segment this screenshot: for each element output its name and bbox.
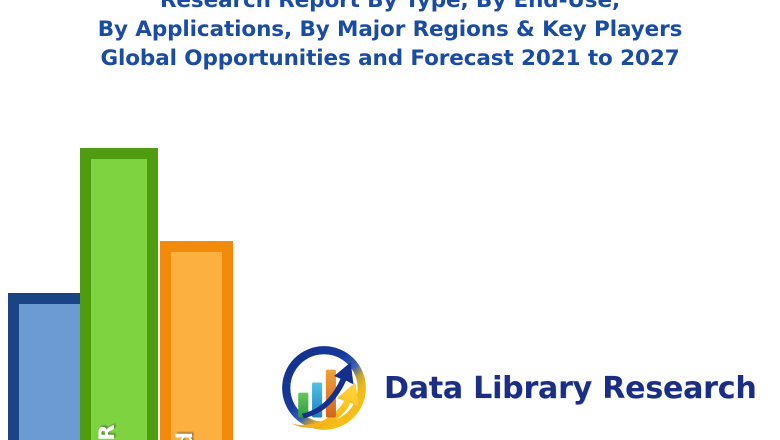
report-banner: Research Report By Type, By End-Use, By … — [0, 0, 780, 440]
title-line-2: By Applications, By Major Regions & Key … — [0, 15, 780, 44]
brand-logo: Data Library Research — [278, 340, 757, 436]
page-title: Research Report By Type, By End-Use, By … — [0, 0, 780, 73]
title-line-1: Research Report By Type, By End-Use, — [0, 0, 780, 15]
bar-cagr: XX % CAGR — [80, 148, 158, 440]
bar-chart: USD XX Million XX % CAGR Market Trend — [0, 140, 260, 440]
bar-cagr-label: XX % CAGR — [95, 424, 119, 440]
title-line-3: Global Opportunities and Forecast 2021 t… — [0, 44, 780, 73]
brand-name: Data Library Research — [384, 371, 757, 406]
bar-cagr-fill — [91, 159, 147, 440]
bar-market-trend: Market Trend — [160, 241, 233, 440]
bar-market-trend-label: Market Trend — [173, 432, 197, 440]
bar-chart-arrow-circle-icon — [278, 342, 370, 434]
bar-usd-million-fill — [19, 304, 87, 440]
bar-market-trend-fill — [171, 252, 222, 440]
